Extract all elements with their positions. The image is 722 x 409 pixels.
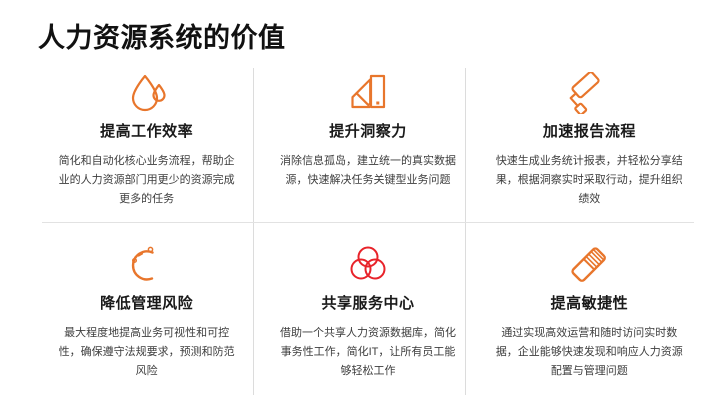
card-body: 借助一个共享人力资源数据库，简化事务性工作，简化IT，让所有员工能够轻松工作	[277, 324, 459, 381]
value-card-efficiency: 提高工作效率 简化和自动化核心业务流程，帮助企业的人力资源部门用更少的资源完成更…	[36, 63, 257, 228]
water-droplet-icon	[125, 70, 169, 116]
value-card-shared-services: 共享服务中心 借助一个共享人力资源数据库，简化事务性工作，简化IT，让所有员工能…	[257, 228, 478, 393]
card-body: 简化和自动化核心业务流程，帮助企业的人力资源部门用更少的资源完成更多的任务	[56, 152, 238, 209]
card-title: 提高工作效率	[100, 120, 193, 141]
venn-diagram-icon	[346, 242, 390, 288]
card-title: 提升洞察力	[329, 120, 407, 141]
eraser-icon	[566, 242, 612, 288]
card-title: 降低管理风险	[100, 292, 193, 313]
card-title: 提高敏捷性	[551, 292, 629, 313]
page-title: 人力资源系统的价值	[38, 16, 286, 55]
value-cards-grid: 提高工作效率 简化和自动化核心业务流程，帮助企业的人力资源部门用更少的资源完成更…	[36, 63, 700, 393]
card-body: 消除信息孤岛，建立统一的真实数据源，快速解决任务关键型业务问题	[277, 152, 459, 190]
value-card-reporting: 加速报告流程 快速生成业务统计报表，并轻松分享结果，根据洞察实时采取行动，提升组…	[479, 63, 700, 228]
card-body: 通过实现高效运营和随时访问实时数据，企业能够快速发现和响应人力资源配置与管理问题	[493, 324, 686, 381]
value-card-insight: 提升洞察力 消除信息孤岛，建立统一的真实数据源，快速解决任务关键型业务问题	[257, 63, 478, 228]
value-card-agility: 提高敏捷性 通过实现高效运营和随时访问实时数据，企业能够快速发现和响应人力资源配…	[479, 228, 700, 393]
paint-swatch-chart-icon	[346, 70, 390, 116]
card-body: 快速生成业务统计报表，并轻松分享结果，根据洞察实时采取行动，提升组织绩效	[493, 152, 686, 209]
open-circle-arc-icon	[125, 242, 169, 288]
value-card-risk: 降低管理风险 最大程度地提高业务可视性和可控性，确保遵守法规要求，预测和防范风险	[36, 228, 257, 393]
card-title: 加速报告流程	[543, 120, 636, 141]
card-title: 共享服务中心	[321, 292, 414, 313]
paint-roller-icon	[566, 70, 612, 116]
card-body: 最大程度地提高业务可视性和可控性，确保遵守法规要求，预测和防范风险	[56, 324, 238, 381]
